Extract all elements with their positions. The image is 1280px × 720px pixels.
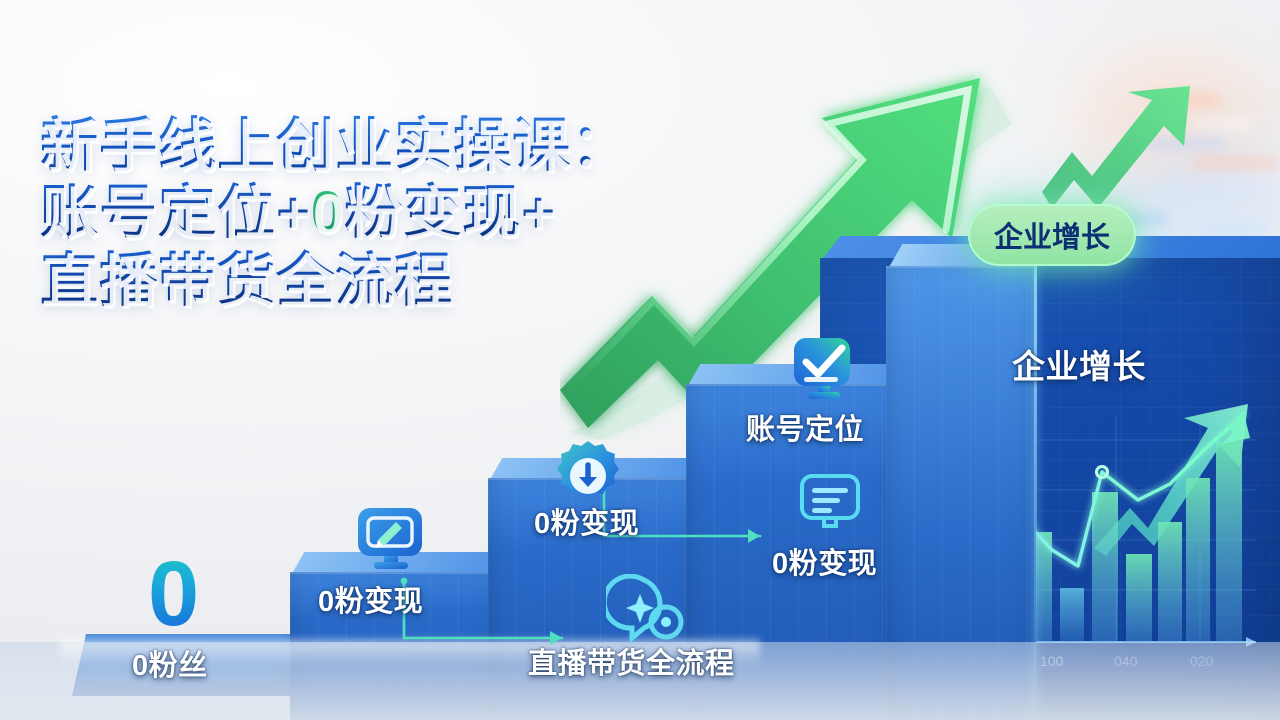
page-title: 新手线上创业实操课： 账号定位+0粉变现+ 直播带货全流程 [40,112,760,314]
headline-line-1: 新手线上创业实操课： [40,112,760,179]
sparkle-lens-icon [606,574,684,646]
step-label-0: 0粉丝 [132,642,208,684]
headline-line-2-c: 粉变现+ [344,180,556,245]
document-monitor-icon [794,468,866,540]
step-label-1: 0粉变现 [318,578,423,620]
step-label-3: 账号定位 [746,406,864,448]
floating-label-monetize: 0粉变现 [772,540,877,582]
big-zero-number: 0 [148,548,199,640]
monitor-check-icon [786,330,862,406]
arrow-up-green-small-icon [1042,84,1222,214]
headline-line-2: 账号定位+0粉变现+ [40,179,760,246]
monitor-pen-icon [352,500,428,576]
step-label-2: 0粉变现 [534,500,639,542]
badge-enterprise-growth[interactable]: 企业增长 [968,204,1136,266]
floating-label-livestream: 直播带货全流程 [528,640,735,682]
step-label-4: 企业增长 [1012,340,1146,388]
poster-canvas: 90 30 30 :00 180 100 040 020 [0,0,1280,720]
headline-zero-accent: 0 [311,180,344,245]
headline-line-2-a: 账号定位+ [40,180,311,245]
headline-line-3: 直播带货全流程 [40,247,760,314]
